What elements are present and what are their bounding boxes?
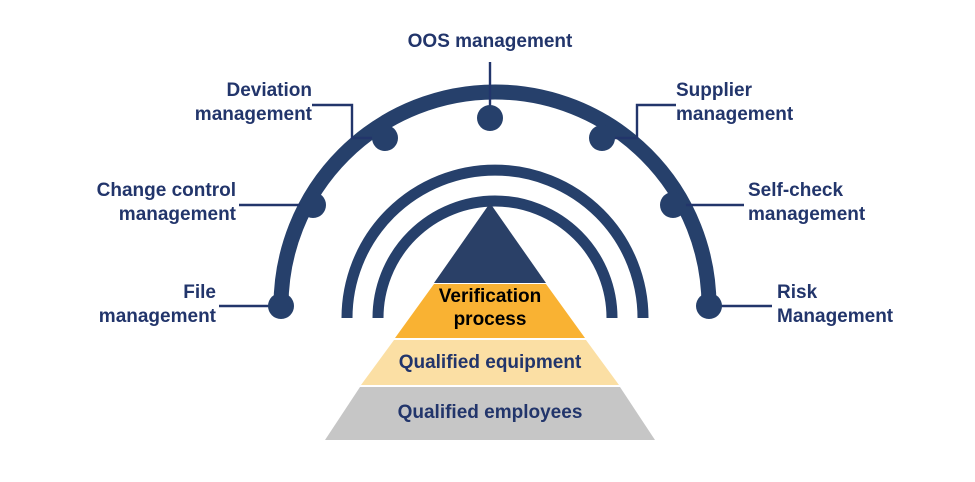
diagram-graphics: [0, 0, 975, 482]
pyramid-tier-employees[interactable]: [325, 387, 655, 440]
pyramid-tier-verification[interactable]: [395, 284, 585, 338]
arc-label-change-control[interactable]: Change control management: [0, 179, 236, 227]
arc-label-supplier[interactable]: Supplier management: [676, 79, 946, 127]
arc-node-supplier[interactable]: [589, 125, 615, 151]
arc-label-deviation[interactable]: Deviation management: [52, 79, 312, 127]
diagram-canvas: OOS management Deviation management Supp…: [0, 0, 975, 482]
arc-label-risk[interactable]: Risk Management: [777, 281, 975, 329]
arc-node-deviation[interactable]: [372, 125, 398, 151]
arc-label-oos[interactable]: OOS management: [340, 30, 640, 54]
arc-node-self-check[interactable]: [660, 192, 686, 218]
arc-node-risk[interactable]: [696, 293, 722, 319]
arc-label-self-check[interactable]: Self-check management: [748, 179, 975, 227]
arc-label-file[interactable]: File management: [0, 281, 216, 329]
pyramid-tier-equipment[interactable]: [361, 340, 619, 385]
arc-node-change-control[interactable]: [300, 192, 326, 218]
arc-node-oos[interactable]: [477, 105, 503, 131]
arc-node-file[interactable]: [268, 293, 294, 319]
